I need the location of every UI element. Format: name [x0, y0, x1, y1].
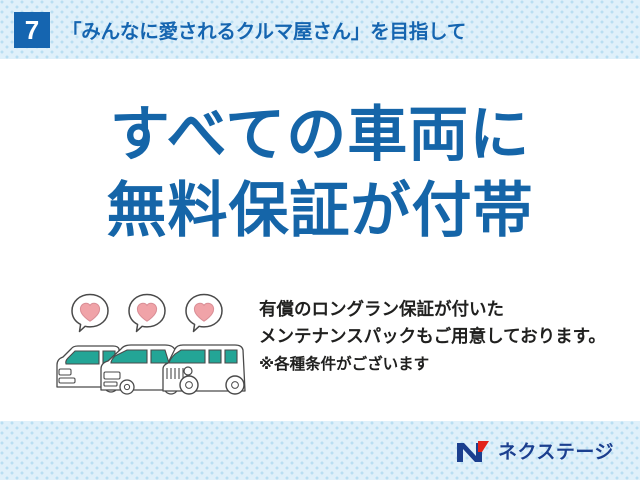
body-copy-line-2: メンテナンスパックもご用意しております。 — [259, 324, 629, 351]
heart-bubble-2 — [126, 292, 168, 334]
car-suv-jeep — [163, 345, 245, 394]
body-copy-line-1: 有償のロングラン保証が付いた — [259, 297, 629, 324]
headline-line-1: すべての車両に — [0, 97, 640, 173]
car-group — [55, 335, 255, 401]
brand-lockup: ネクステージ — [456, 437, 614, 464]
heart-bubble-1 — [69, 292, 111, 334]
body-copy-note: ※各種条件がございます — [259, 351, 629, 377]
header-bar: 7 「みんなに愛されるクルマ屋さん」を目指して — [0, 0, 640, 59]
brand-name: ネクステージ — [498, 437, 614, 464]
nextage-n-logo-icon — [456, 439, 490, 463]
header-title: 「みんなに愛されるクルマ屋さん」を目指して — [62, 15, 466, 44]
heart-bubbles-group — [55, 289, 255, 341]
headline-line-2: 無料保証が付帯 — [0, 173, 640, 249]
heart-bubble-3 — [183, 292, 225, 334]
main-content: すべての車両に 無料保証が付帯 — [0, 59, 640, 421]
headline-block: すべての車両に 無料保証が付帯 — [0, 97, 640, 249]
body-copy-block: 有償のロングラン保証が付いた メンテナンスパックもご用意しております。 ※各種条… — [259, 297, 629, 377]
lower-content-row: 有償のロングラン保証が付いた メンテナンスパックもご用意しております。 ※各種条… — [0, 289, 640, 409]
cars-illustration — [55, 289, 255, 401]
footer-bar: ネクステージ — [0, 421, 640, 480]
header-number-badge: 7 — [14, 12, 50, 48]
advertisement-banner: 7 「みんなに愛されるクルマ屋さん」を目指して すべての車両に 無料保証が付帯 — [0, 0, 640, 480]
